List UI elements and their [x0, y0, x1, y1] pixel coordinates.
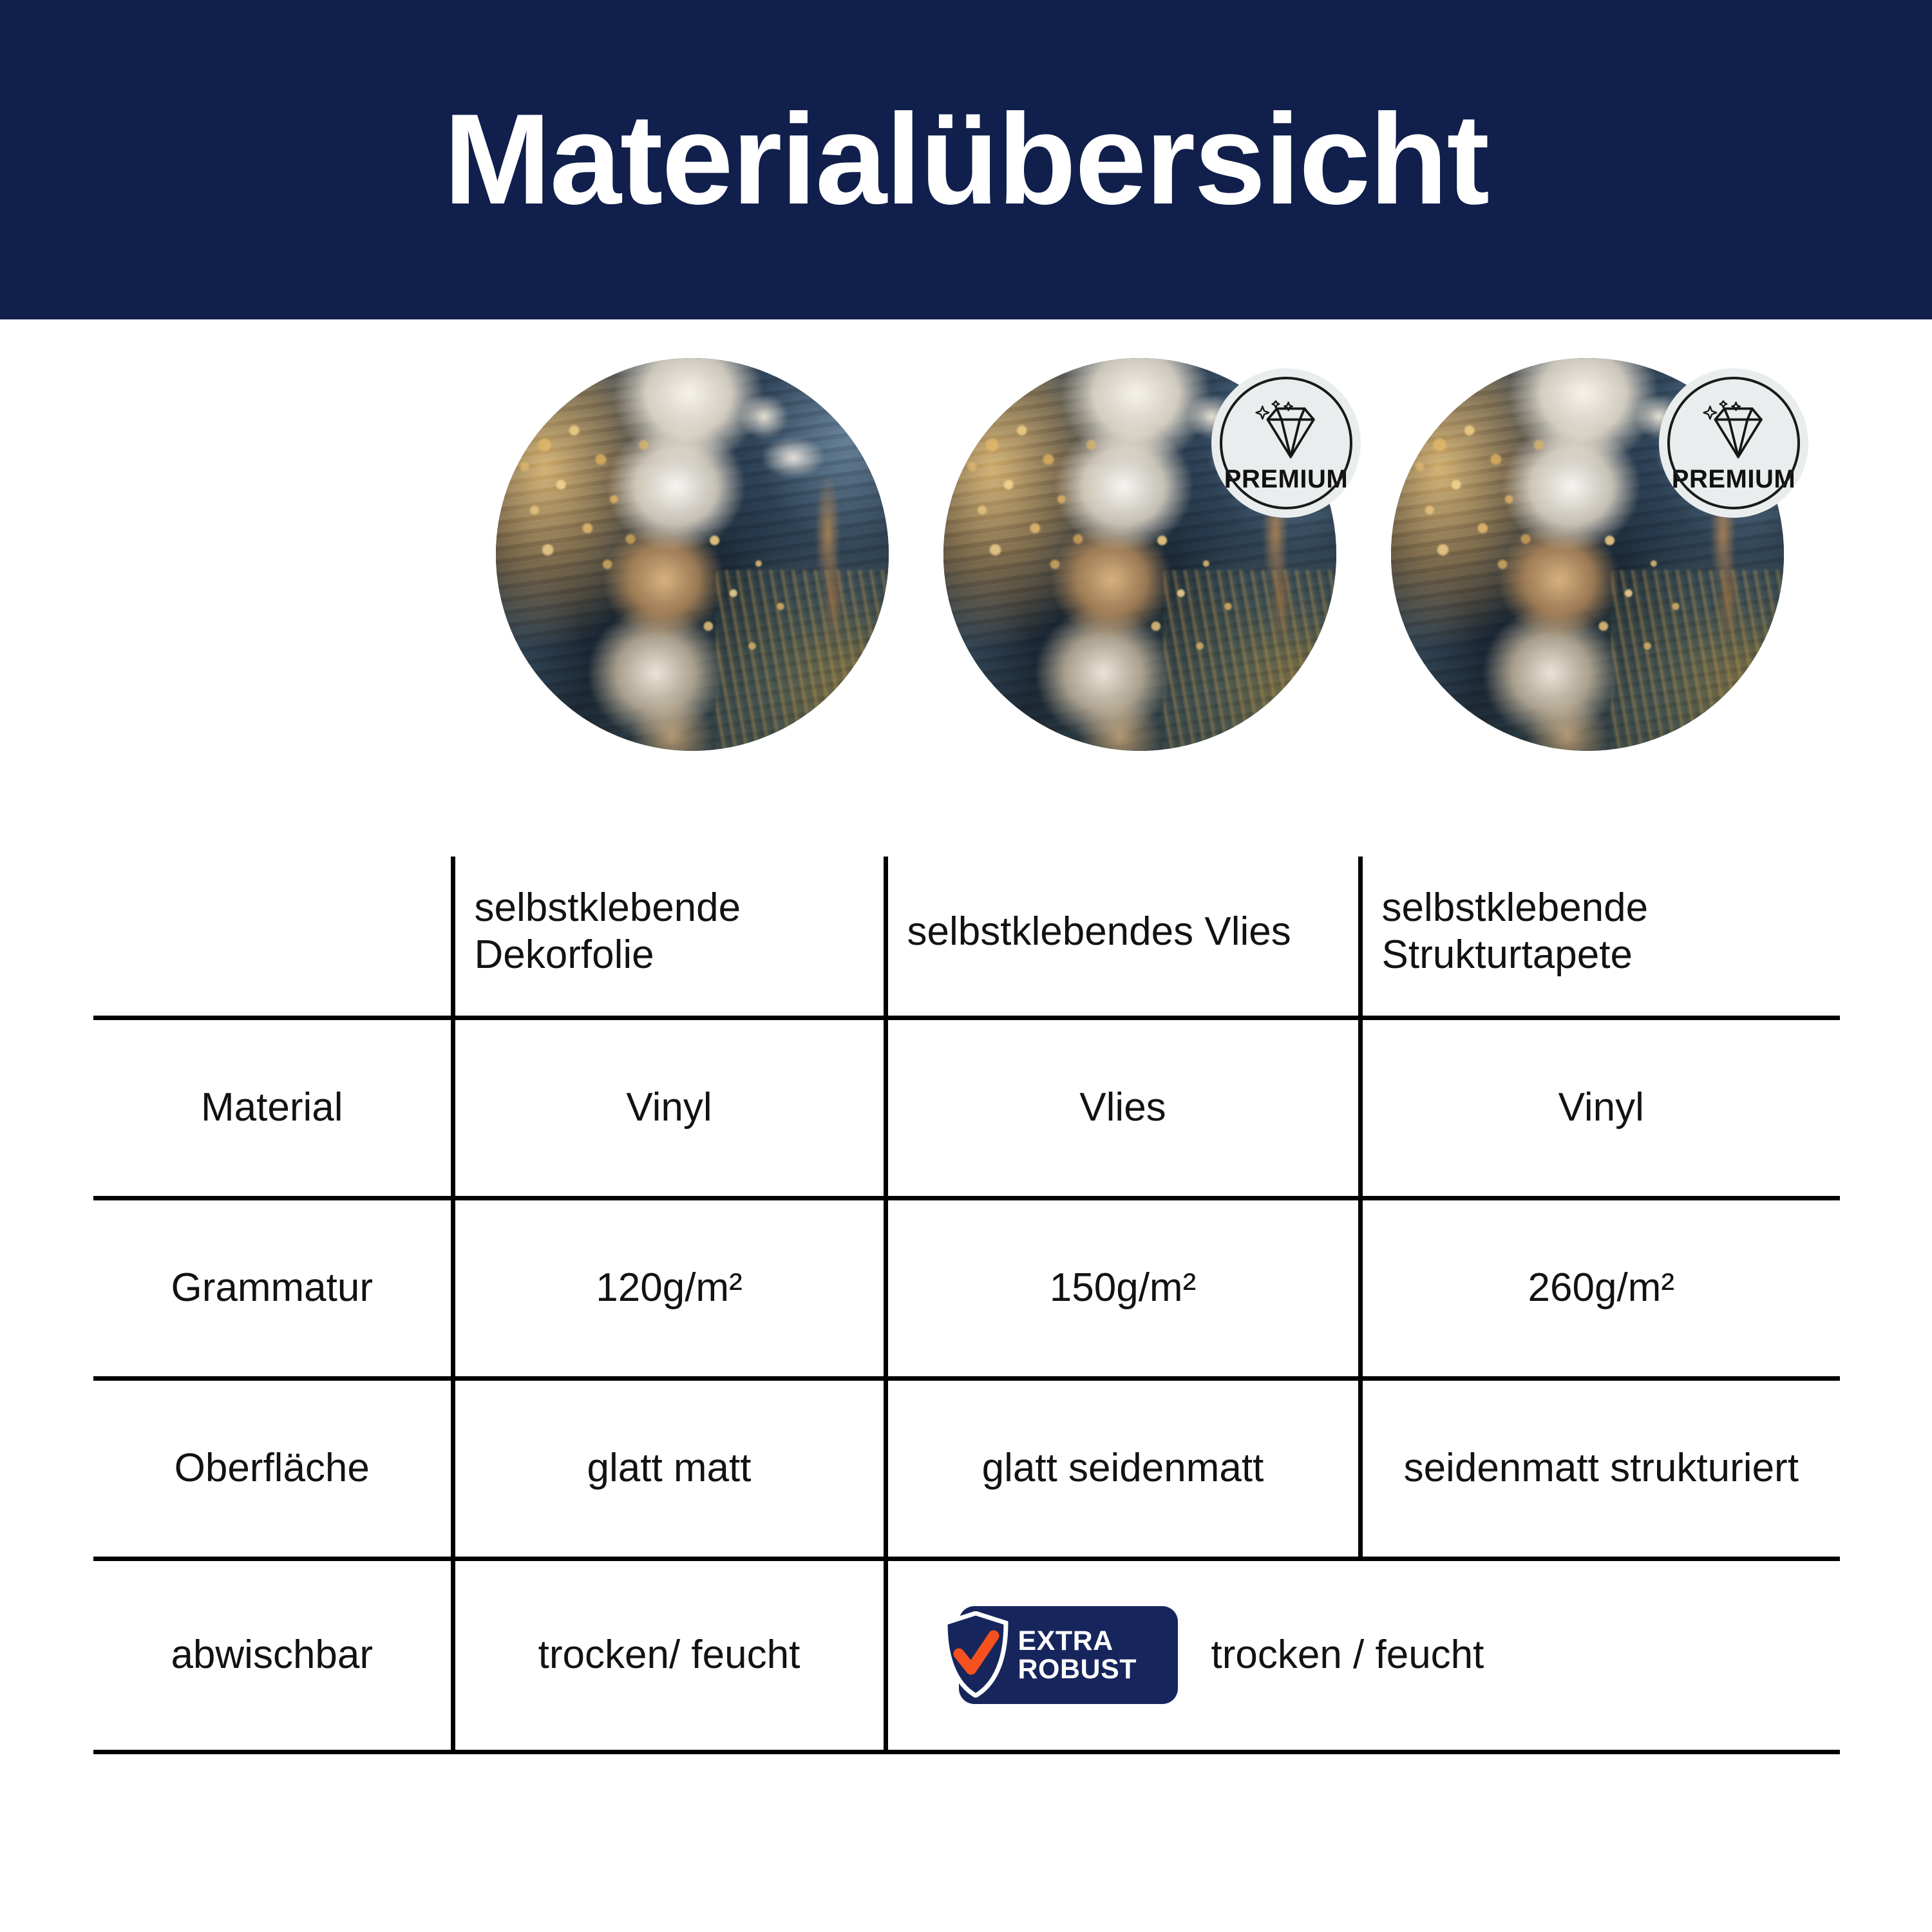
cell-oberflaeche-vlies: glatt seidenmatt — [885, 1378, 1360, 1558]
table-row: Oberfläche glatt matt glatt seidenmatt s… — [93, 1378, 1840, 1558]
product-preview-row: PREMIUM — [0, 358, 1932, 755]
row-label-grammatur: Grammatur — [93, 1198, 453, 1378]
extra-robust-label: EXTRA ROBUST — [1018, 1627, 1137, 1684]
premium-badge: PREMIUM — [1659, 368, 1808, 518]
premium-badge-label: PREMIUM — [1672, 466, 1795, 492]
column-header-vlies: selbstklebendes Vlies — [885, 857, 1360, 1018]
extra-robust-badge: EXTRA ROBUST — [959, 1606, 1178, 1704]
product-preview-1[interactable] — [496, 358, 889, 751]
cell-material-strukturtapete: Vinyl — [1360, 1018, 1840, 1198]
merged-cell-content: EXTRA ROBUST trocken / feucht — [897, 1606, 1832, 1704]
cell-material-vlies: Vlies — [885, 1018, 1360, 1198]
column-header-strukturtapete: selbstklebende Strukturtapete — [1360, 857, 1840, 1018]
shield-check-icon — [942, 1611, 1009, 1698]
cell-grammatur-dekorfolie: 120g/m² — [453, 1198, 885, 1378]
cell-abwischbar-merged: EXTRA ROBUST trocken / feucht — [885, 1558, 1840, 1752]
extra-robust-line2: ROBUST — [1018, 1655, 1137, 1683]
product-preview-3[interactable]: PREMIUM — [1391, 358, 1784, 751]
cell-grammatur-vlies: 150g/m² — [885, 1198, 1360, 1378]
table-header-row: selbstklebende Dekorfolie selbstklebende… — [93, 857, 1840, 1018]
material-spec-table-wrapper: selbstklebende Dekorfolie selbstklebende… — [93, 857, 1840, 1887]
product-preview-2[interactable]: PREMIUM — [943, 358, 1336, 751]
material-overview-page: Materialübersicht — [0, 0, 1932, 1932]
extra-robust-line1: EXTRA — [1018, 1627, 1137, 1655]
cell-oberflaeche-strukturtapete: seidenmatt strukturiert — [1360, 1378, 1840, 1558]
cell-oberflaeche-dekorfolie: glatt matt — [453, 1378, 885, 1558]
cell-material-dekorfolie: Vinyl — [453, 1018, 885, 1198]
page-header: Materialübersicht — [0, 0, 1932, 319]
cell-abwischbar-merged-text: trocken / feucht — [1211, 1631, 1484, 1678]
cell-abwischbar-dekorfolie: trocken/ feucht — [453, 1558, 885, 1752]
table-row: Grammatur 120g/m² 150g/m² 260g/m² — [93, 1198, 1840, 1378]
premium-badge: PREMIUM — [1211, 368, 1361, 518]
table-row: Material Vinyl Vlies Vinyl — [93, 1018, 1840, 1198]
product-image-1 — [496, 358, 889, 751]
premium-badge-label: PREMIUM — [1224, 466, 1348, 492]
diamond-icon — [1699, 401, 1768, 465]
artwork-vignette — [496, 358, 889, 751]
cell-grammatur-strukturtapete: 260g/m² — [1360, 1198, 1840, 1378]
table-corner-cell — [93, 857, 453, 1018]
diamond-icon — [1251, 401, 1321, 465]
column-header-dekorfolie: selbstklebende Dekorfolie — [453, 857, 885, 1018]
page-title: Materialübersicht — [444, 95, 1488, 224]
material-spec-table: selbstklebende Dekorfolie selbstklebende… — [93, 857, 1840, 1754]
table-row: abwischbar trocken/ feucht EXTRA — [93, 1558, 1840, 1752]
row-label-material: Material — [93, 1018, 453, 1198]
row-label-abwischbar: abwischbar — [93, 1558, 453, 1752]
row-label-oberflaeche: Oberfläche — [93, 1378, 453, 1558]
